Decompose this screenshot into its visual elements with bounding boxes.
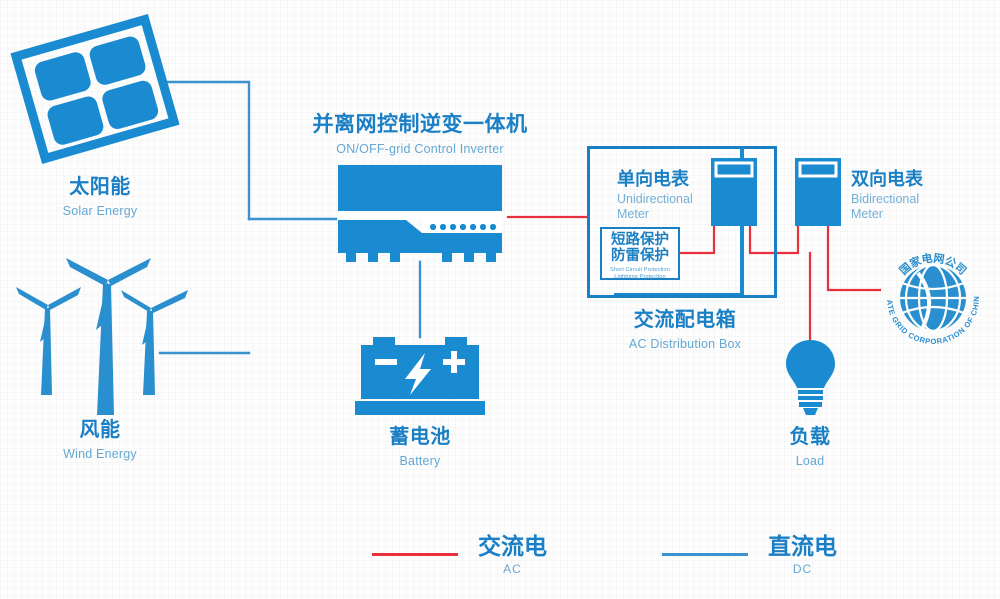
inverter-label: 并离网控制逆变一体机 ON/OFF-grid Control Inverter bbox=[300, 112, 540, 157]
load-label: 负载 Load bbox=[755, 425, 865, 469]
battery-icon bbox=[355, 337, 485, 422]
bidirectional-meter-icon bbox=[795, 158, 841, 231]
wind-energy-label-cn: 风能 bbox=[40, 418, 160, 444]
legend-dc: 直流电 DC bbox=[662, 532, 837, 577]
bidirectional-meter-label-cn: 双向电表 bbox=[851, 168, 923, 191]
legend-ac-cn: 交流电 bbox=[478, 532, 547, 561]
legend-ac-text: 交流电 AC bbox=[478, 532, 547, 577]
load-label-cn: 负载 bbox=[755, 425, 865, 451]
protection-label-cn2: 防雷保护 bbox=[602, 248, 678, 264]
load-label-en: Load bbox=[755, 453, 865, 469]
inverter-label-en: ON/OFF-grid Control Inverter bbox=[300, 141, 540, 157]
bidirectional-meter-label-en1: Bidirectional bbox=[851, 192, 923, 208]
ac-wire-bimeter-to-grid bbox=[828, 225, 880, 290]
legend-dc-en: DC bbox=[768, 562, 837, 577]
wind-turbine-icon bbox=[8, 250, 208, 420]
protection-label-en2: Lightning Protection bbox=[602, 274, 678, 281]
inverter-icon bbox=[330, 165, 510, 270]
state-grid-logo-icon: 国家电网公司 STATE GRID CORPORATION OF CHINA bbox=[878, 243, 988, 352]
ac-distribution-box-label-en: AC Distribution Box bbox=[610, 336, 760, 352]
unidirectional-meter-label-cn: 单向电表 bbox=[617, 168, 693, 191]
wind-energy-label-en: Wind Energy bbox=[40, 446, 160, 462]
unidirectional-meter-label-en1: Unidirectional bbox=[617, 192, 693, 208]
legend-dc-line bbox=[662, 553, 748, 556]
legend-dc-text: 直流电 DC bbox=[768, 532, 837, 577]
bidirectional-meter-label-en2: Meter bbox=[851, 207, 923, 223]
diagram-canvas: 太阳能 Solar Energy bbox=[0, 0, 1000, 599]
battery-label-cn: 蓄电池 bbox=[360, 425, 480, 451]
light-bulb-icon bbox=[783, 338, 838, 423]
ac-distribution-box-label-cn: 交流配电箱 bbox=[610, 308, 760, 334]
legend-dc-cn: 直流电 bbox=[768, 532, 837, 561]
protection-label-en1: Short Circuit Protection bbox=[602, 267, 678, 274]
solar-energy-label: 太阳能 Solar Energy bbox=[40, 175, 160, 219]
battery-label-en: Battery bbox=[360, 453, 480, 469]
solar-energy-label-cn: 太阳能 bbox=[40, 175, 160, 201]
legend-ac-line bbox=[372, 553, 458, 556]
solar-energy-label-en: Solar Energy bbox=[40, 203, 160, 219]
legend-ac: 交流电 AC bbox=[372, 532, 547, 577]
inverter-label-cn: 并离网控制逆变一体机 bbox=[300, 112, 540, 139]
protection-box: 短路保护 防雷保护 Short Circuit Protection Light… bbox=[600, 227, 680, 280]
unidirectional-meter-icon bbox=[711, 158, 757, 231]
unidirectional-meter-label-en2: Meter bbox=[617, 207, 693, 223]
protection-label-cn1: 短路保护 bbox=[602, 232, 678, 248]
battery-label: 蓄电池 Battery bbox=[360, 425, 480, 469]
legend-ac-en: AC bbox=[478, 562, 547, 577]
bidirectional-meter-label: 双向电表 Bidirectional Meter bbox=[851, 168, 923, 223]
wind-energy-label: 风能 Wind Energy bbox=[40, 418, 160, 462]
ac-distribution-box-label: 交流配电箱 AC Distribution Box bbox=[610, 308, 760, 352]
unidirectional-meter-label: 单向电表 Unidirectional Meter bbox=[617, 168, 693, 223]
solar-panel-icon bbox=[10, 14, 180, 169]
